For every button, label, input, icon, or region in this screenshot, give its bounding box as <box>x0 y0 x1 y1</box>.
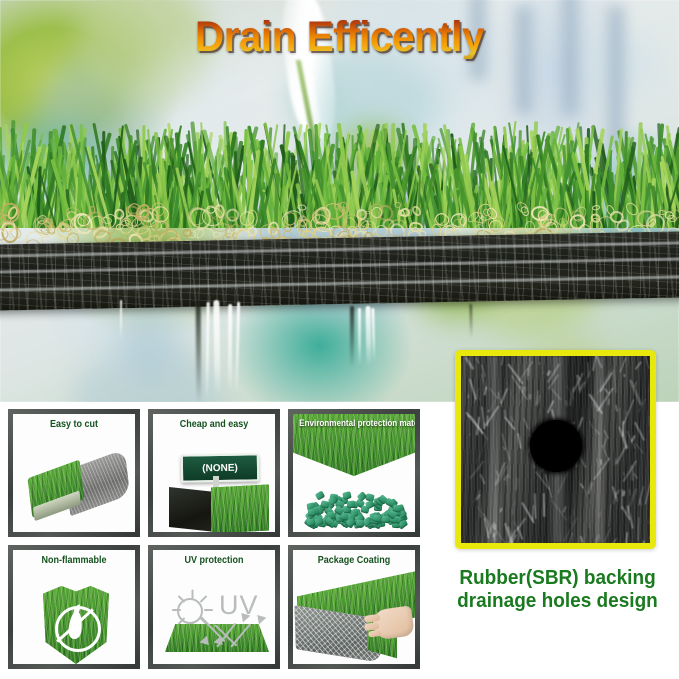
rubber-fiber <box>648 416 650 427</box>
panel-content: Environmental protection materials <box>293 414 415 532</box>
sun-ray <box>200 595 208 603</box>
panel-title: Cheap and easy <box>159 419 269 430</box>
green-turf-sheet <box>211 484 269 532</box>
rubber-fiber <box>642 540 645 544</box>
feature-panel-uv-protection: UV protection UV <box>148 545 280 669</box>
rubber-fiber <box>650 521 656 540</box>
sun-ray <box>204 609 213 611</box>
rubber-ridge <box>487 356 505 543</box>
rubber-fiber <box>527 368 530 376</box>
resin-pellet <box>342 491 351 500</box>
product-feature-image: Drain Efficently Easy to cut Cheap and e… <box>0 0 679 679</box>
resin-pellet <box>315 490 325 500</box>
finger <box>364 614 381 623</box>
page-title: Drain Efficently <box>20 16 658 59</box>
water-drip <box>228 304 232 392</box>
thatch-curl <box>296 203 306 211</box>
thatch-curl <box>393 202 401 209</box>
rubber-fiber <box>650 411 654 417</box>
rubber-fiber <box>587 501 590 528</box>
rubber-fiber <box>511 507 514 515</box>
resin-pellets-image <box>303 486 407 528</box>
panel-title: Easy to cut <box>19 419 129 430</box>
resin-pellet <box>347 500 355 507</box>
panel-content: Easy to cut <box>13 414 135 532</box>
resin-pellet <box>356 520 364 527</box>
rubber-fiber <box>539 362 540 365</box>
finger <box>368 630 382 638</box>
rubber-backing-closeup <box>455 350 656 549</box>
feature-panel-non-flammable: Non-flammable <box>8 545 140 669</box>
thatch-curl <box>592 204 601 211</box>
feature-panel-package-coating: Package Coating <box>288 545 420 669</box>
resin-pellet <box>307 518 316 526</box>
feature-panel-environmental-protection-materials: Environmental protection materials <box>288 409 420 537</box>
thatch-curl <box>2 222 15 232</box>
none-sign: (NONE) <box>181 453 259 482</box>
panel-content: Non-flammable <box>13 550 135 664</box>
rolled-turf-image <box>26 452 133 524</box>
rubber-fiber <box>654 517 656 530</box>
thatch-curl <box>182 229 192 237</box>
rubber-fiber <box>650 412 656 433</box>
rubber-fiber <box>572 509 574 516</box>
rubber-fiber <box>650 471 656 485</box>
panel-title: Non-flammable <box>19 555 129 566</box>
panel-title: Environmental protection materials <box>299 418 409 428</box>
sun-ray <box>192 590 194 599</box>
water-drip <box>358 308 361 366</box>
sun-ray <box>172 609 181 611</box>
feature-panel-cheap-and-easy: Cheap and easy (NONE) <box>148 409 280 537</box>
turf-backing <box>0 231 679 311</box>
rubber-fiber <box>467 394 468 398</box>
rubber-fiber <box>626 411 628 415</box>
water-drip <box>196 300 202 402</box>
panel-title: UV protection <box>159 555 269 566</box>
rubber-fiber <box>650 460 656 481</box>
rubber-fiber <box>543 493 545 517</box>
caption-line-1: Rubber(SBR) backing <box>442 567 673 590</box>
water-drip <box>350 306 354 368</box>
panel-content: UV protection UV <box>153 550 275 664</box>
panel-title: Package Coating <box>299 555 409 566</box>
panel-content: Package Coating <box>293 550 415 664</box>
background-blob <box>118 305 180 382</box>
rubber-fiber <box>651 420 652 425</box>
panel-content: Cheap and easy (NONE) <box>153 414 275 532</box>
rubber-fiber <box>653 431 656 451</box>
resin-pellet <box>308 508 317 516</box>
water-drip <box>120 300 122 340</box>
caption-line-2: drainage holes design <box>442 590 673 613</box>
prohibition-circle-icon <box>55 606 101 652</box>
turf-cross-section <box>0 116 679 301</box>
drainage-hole <box>530 420 582 472</box>
feature-panel-easy-to-cut: Easy to cut <box>8 409 140 537</box>
thatch-curl <box>411 204 424 218</box>
resin-pellet <box>372 514 381 523</box>
feature-grid: Easy to cut Cheap and easy (NONE) <box>8 409 428 669</box>
thatch-curl <box>459 216 466 226</box>
closeup-caption: Rubber(SBR) backing drainage holes desig… <box>442 567 673 613</box>
